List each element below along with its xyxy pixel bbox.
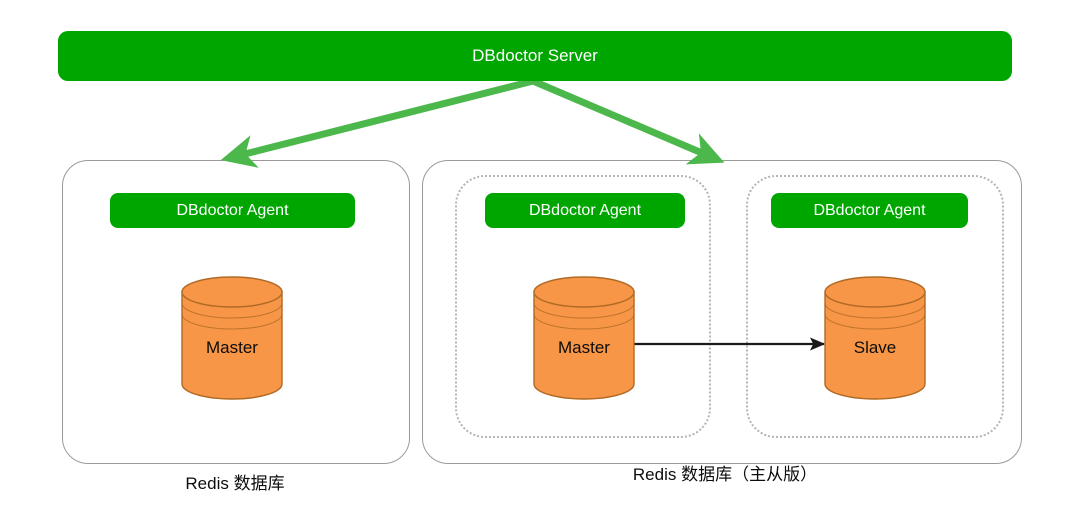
caption-redis-standalone: Redis 数据库 （单机版）	[62, 445, 408, 509]
caption-replica-line1: Redis 数据库（主从版）	[627, 465, 823, 484]
database-cylinder-standalone-master[interactable]: Master	[181, 276, 283, 400]
arrow-server-to-standalone	[237, 81, 533, 156]
dbdoctor-server-label: DBdoctor Server	[472, 46, 598, 66]
caption-redis-replica: Redis 数据库（主从版） 主备部署在不同一服务器	[490, 436, 960, 509]
dbdoctor-agent-box-master[interactable]: DBdoctor Agent	[485, 193, 685, 228]
arrow-server-to-replica	[533, 81, 709, 156]
database-cylinder-replica-master[interactable]: Master	[533, 276, 635, 400]
dbdoctor-agent-label-slave: DBdoctor Agent	[813, 202, 925, 220]
dbdoctor-agent-label-standalone: DBdoctor Agent	[176, 202, 288, 220]
dbdoctor-agent-box-slave[interactable]: DBdoctor Agent	[771, 193, 968, 228]
dbdoctor-agent-label-master: DBdoctor Agent	[529, 202, 641, 220]
diagram-canvas: DBdoctor Server DBdoctor Agent DBdoctor …	[0, 0, 1080, 509]
dbdoctor-agent-box-standalone[interactable]: DBdoctor Agent	[110, 193, 355, 228]
caption-standalone-line1: Redis 数据库	[179, 474, 290, 493]
database-cylinder-replica-slave[interactable]: Slave	[824, 276, 926, 400]
dbdoctor-server-box[interactable]: DBdoctor Server	[58, 31, 1012, 81]
